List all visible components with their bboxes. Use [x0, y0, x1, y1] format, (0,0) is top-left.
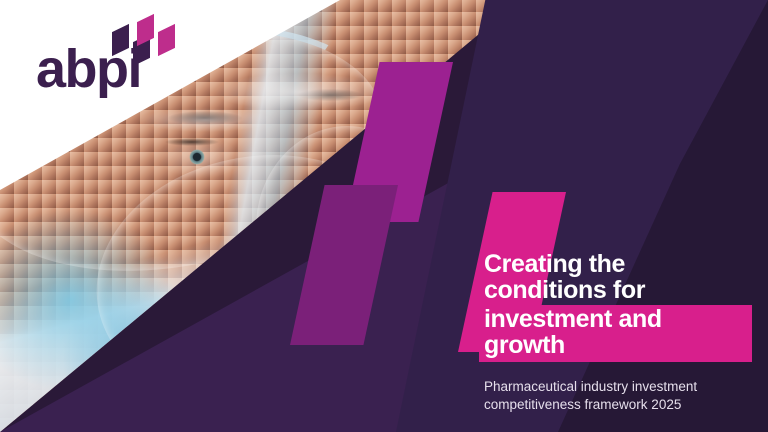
title-line-3-highlighted: investment and growth	[479, 305, 752, 362]
report-cover: abpi Creating the conditions for investm…	[0, 0, 768, 432]
abpi-wordmark: abpi	[36, 42, 141, 96]
title-line-2: conditions for	[484, 278, 752, 304]
title-line-1: Creating the	[484, 252, 752, 278]
logo-diamond-4	[158, 24, 175, 56]
cover-text-block: Creating the conditions for investment a…	[484, 252, 752, 432]
subtitle-line-1: Pharmaceutical industry investment	[484, 378, 752, 396]
page-title: Creating the conditions for investment a…	[484, 252, 752, 362]
abpi-logo: abpi	[36, 16, 176, 100]
page-subtitle: Pharmaceutical industry investment compe…	[484, 378, 752, 413]
subtitle-line-2: competitiveness framework 2025	[484, 396, 752, 414]
